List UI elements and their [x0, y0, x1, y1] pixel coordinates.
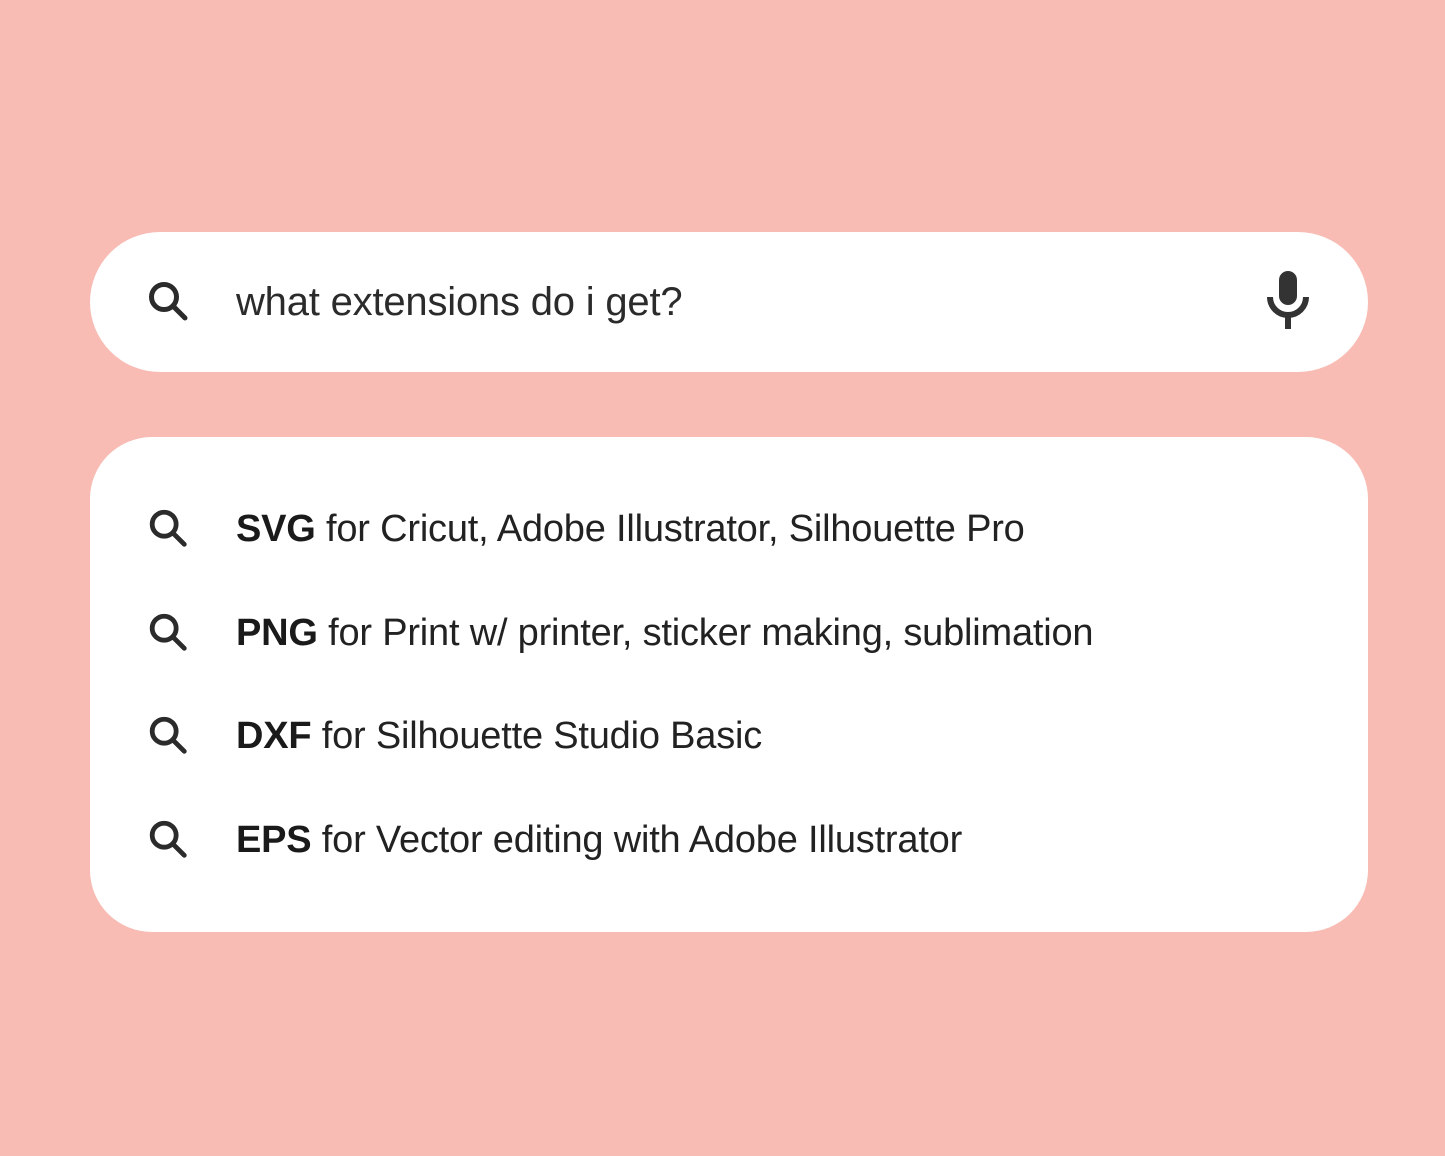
suggestion-text: DXF for Silhouette Studio Basic	[236, 717, 762, 755]
file-format-label: SVG	[236, 508, 316, 550]
suggestion-text: EPS for Vector editing with Adobe Illust…	[236, 821, 962, 859]
search-icon[interactable]	[142, 276, 194, 328]
search-bar[interactable]	[90, 232, 1368, 372]
list-item[interactable]: SVG for Cricut, Adobe Illustrator, Silho…	[90, 477, 1368, 581]
search-icon	[142, 607, 194, 659]
file-format-label: DXF	[236, 715, 311, 757]
search-icon	[142, 814, 194, 866]
suggestion-description: for Print w/ printer, sticker making, su…	[318, 612, 1094, 654]
list-item[interactable]: EPS for Vector editing with Adobe Illust…	[90, 788, 1368, 892]
file-format-label: PNG	[236, 612, 318, 654]
suggestions-card: SVG for Cricut, Adobe Illustrator, Silho…	[90, 437, 1368, 932]
suggestion-text: SVG for Cricut, Adobe Illustrator, Silho…	[236, 510, 1025, 548]
suggestion-text: PNG for Print w/ printer, sticker making…	[236, 614, 1093, 652]
page-canvas: SVG for Cricut, Adobe Illustrator, Silho…	[0, 0, 1445, 1156]
list-item[interactable]: PNG for Print w/ printer, sticker making…	[90, 581, 1368, 685]
list-item[interactable]: DXF for Silhouette Studio Basic	[90, 685, 1368, 789]
search-input[interactable]	[236, 280, 1260, 325]
search-icon	[142, 710, 194, 762]
file-format-label: EPS	[236, 819, 311, 861]
microphone-icon[interactable]	[1260, 267, 1316, 337]
suggestion-description: for Vector editing with Adobe Illustrato…	[311, 819, 962, 861]
suggestion-description: for Cricut, Adobe Illustrator, Silhouett…	[316, 508, 1025, 550]
search-icon	[142, 503, 194, 555]
suggestion-description: for Silhouette Studio Basic	[311, 715, 762, 757]
